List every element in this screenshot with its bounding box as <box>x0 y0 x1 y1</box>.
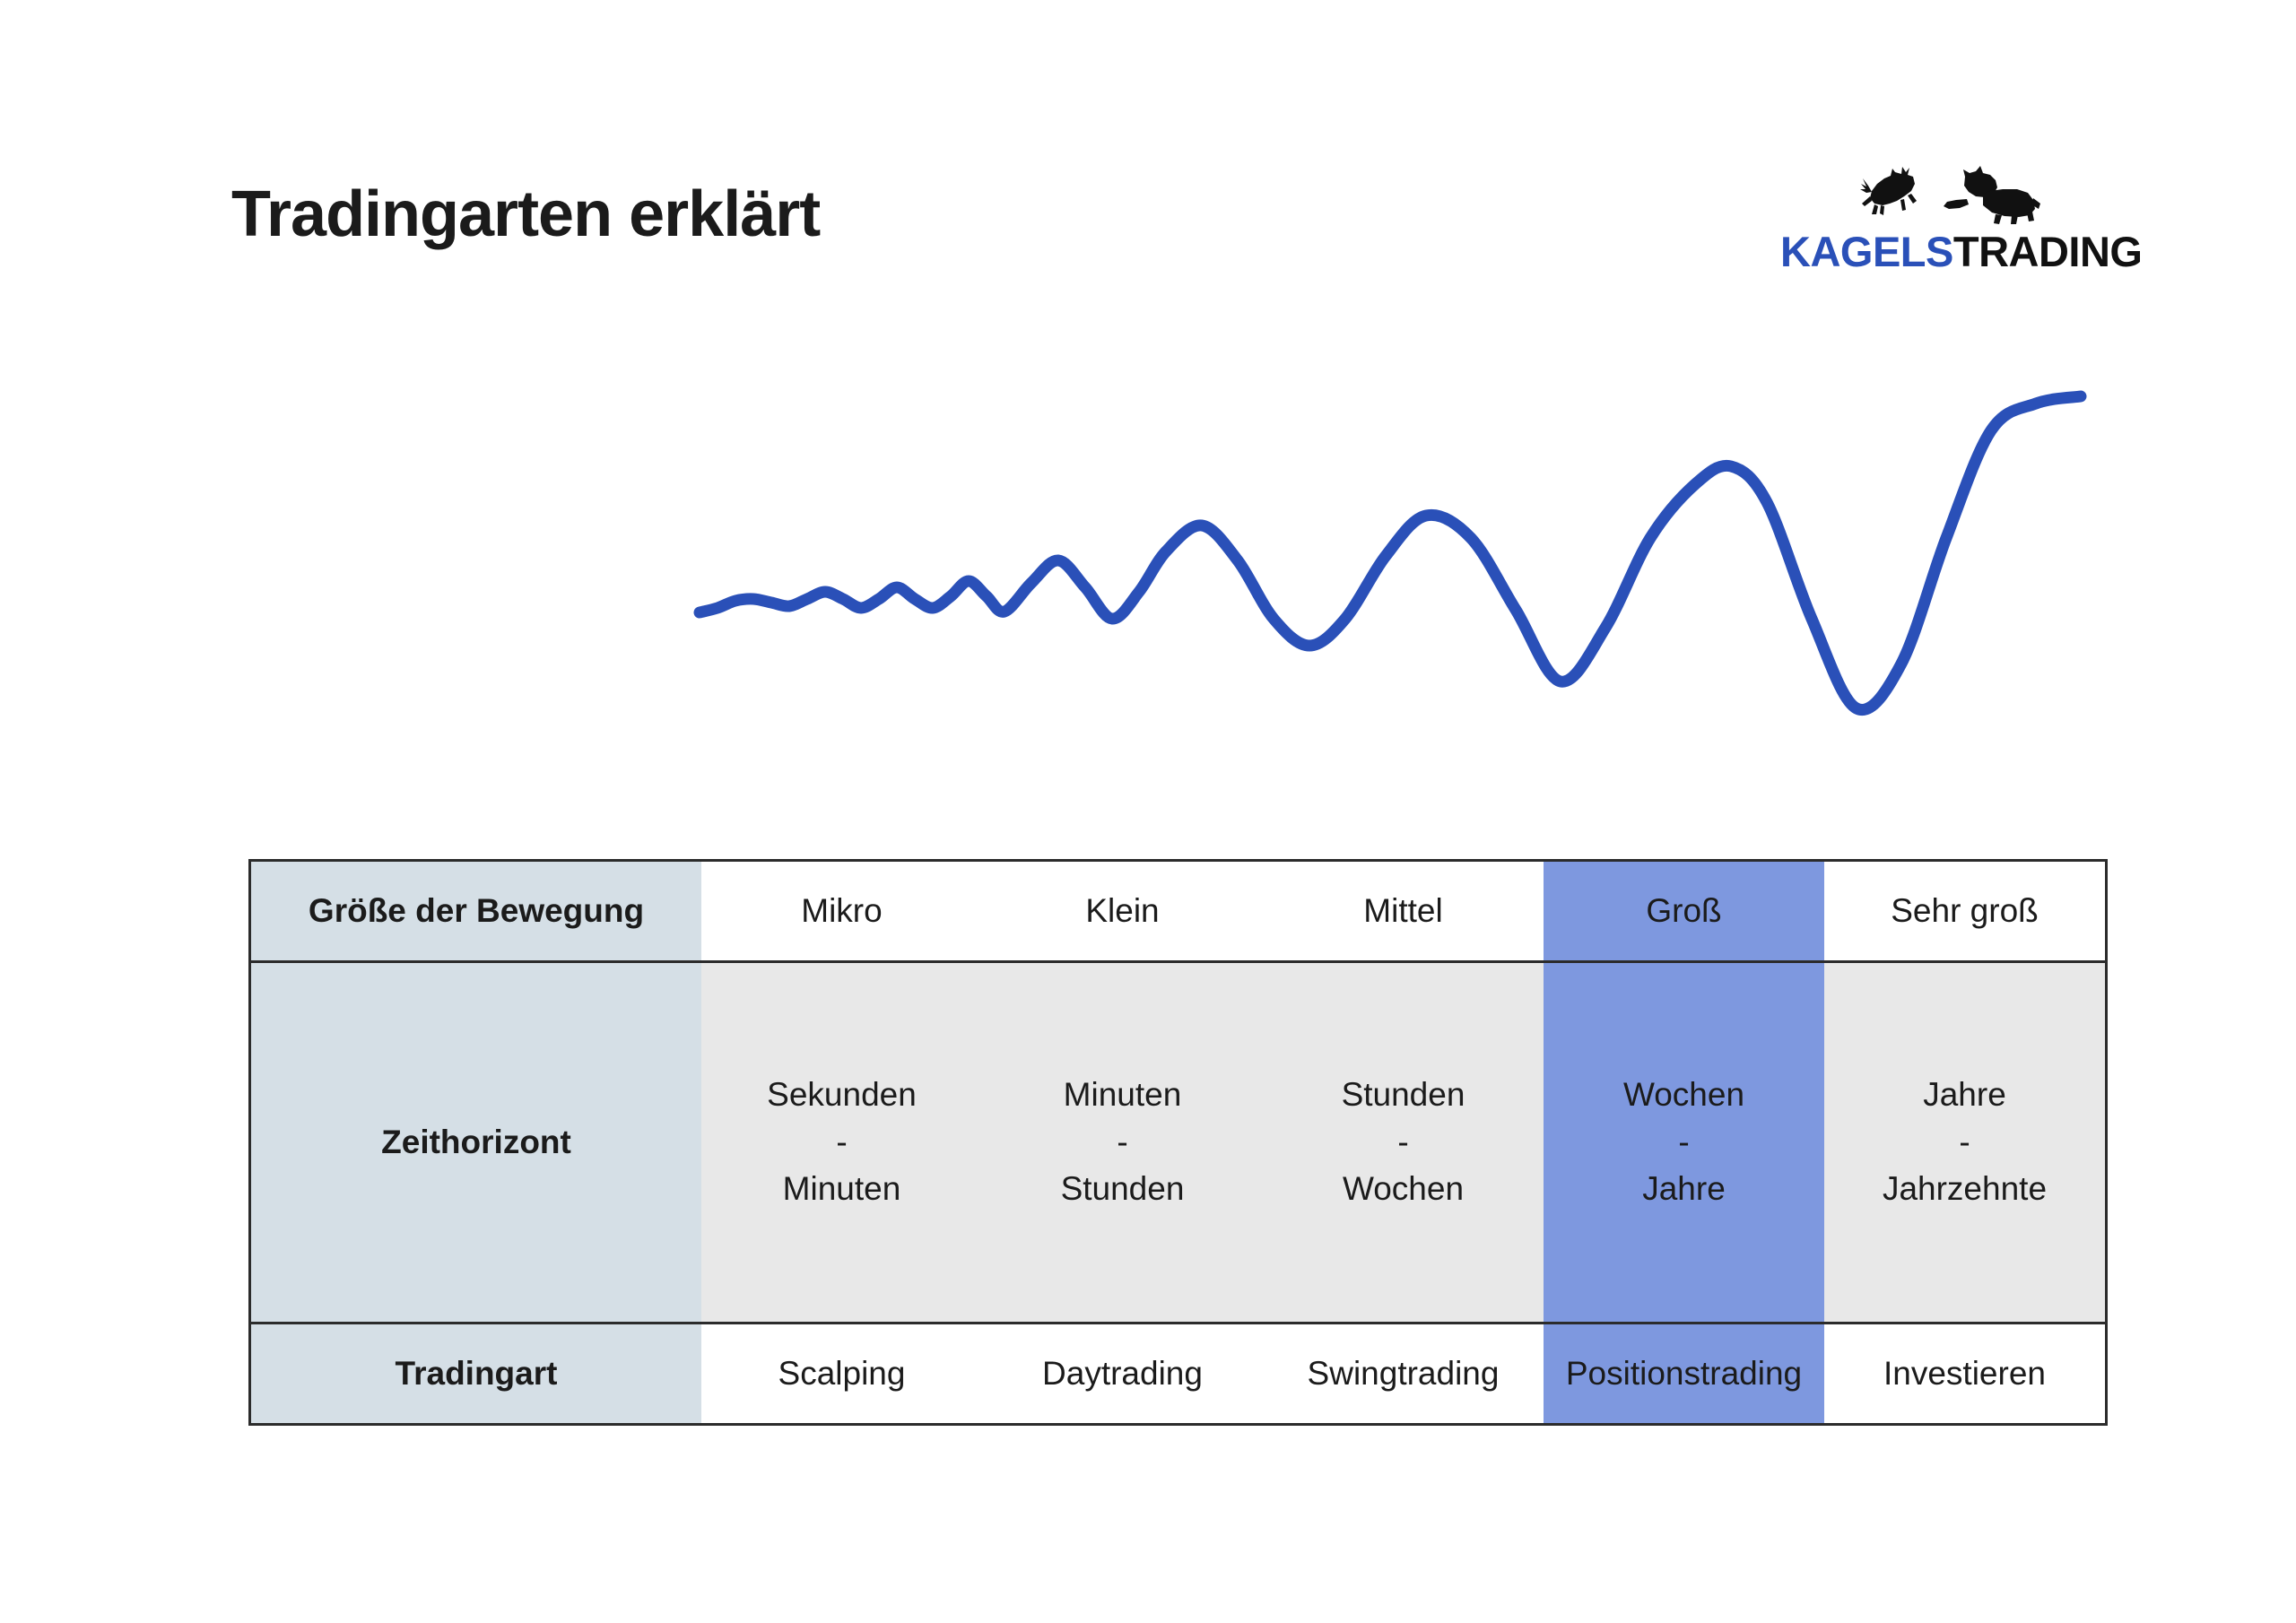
cell-zeit-minuten-stunden[interactable]: Minuten - Stunden <box>982 961 1263 1323</box>
cell-zeit-stunden-wochen[interactable]: Stunden - Wochen <box>1263 961 1544 1323</box>
cell-line-3: Jahre <box>1544 1166 1824 1213</box>
page-title: Tradingarten erklärt <box>231 178 820 251</box>
cell-art-daytrading[interactable]: Daytrading <box>982 1324 1263 1425</box>
market-wave-chart <box>0 341 2296 843</box>
table-row: Zeithorizont Sekunden - Minuten Minuten … <box>250 961 2107 1323</box>
cell-line-1: Jahre <box>1824 1072 2105 1119</box>
cell-groesse-mikro[interactable]: Mikro <box>701 861 982 962</box>
cell-line-2: - <box>1544 1119 1824 1167</box>
table-row: Tradingart Scalping Daytrading Swingtrad… <box>250 1324 2107 1425</box>
cell-art-investieren[interactable]: Investieren <box>1824 1324 2107 1425</box>
cell-line-3: Stunden <box>982 1166 1263 1213</box>
table-row: Größe der Bewegung Mikro Klein Mittel Gr… <box>250 861 2107 962</box>
cell-line-1: Stunden <box>1263 1072 1544 1119</box>
logo-text-trading: TRADING <box>1953 228 2143 275</box>
cell-groesse-sehr-gross[interactable]: Sehr groß <box>1824 861 2107 962</box>
header: Tradingarten erklärt <box>0 0 2296 323</box>
logo-wordmark: KAGELSTRADING <box>1780 229 2121 275</box>
cell-groesse-mittel[interactable]: Mittel <box>1263 861 1544 962</box>
row-label-zeithorizont: Zeithorizont <box>250 961 702 1323</box>
logo[interactable]: KAGELSTRADING <box>1780 164 2121 281</box>
wave-line <box>700 396 2081 710</box>
cell-line-1: Minuten <box>982 1072 1263 1119</box>
logo-animal-marks <box>1850 164 2048 227</box>
cell-groesse-gross[interactable]: Groß <box>1544 861 1824 962</box>
row-label-tradingart: Tradingart <box>250 1324 702 1425</box>
cell-zeit-wochen-jahre[interactable]: Wochen - Jahre <box>1544 961 1824 1323</box>
cell-line-1: Wochen <box>1544 1072 1824 1119</box>
cell-art-scalping[interactable]: Scalping <box>701 1324 982 1425</box>
logo-text-kagels: KAGELS <box>1780 228 1953 275</box>
cell-line-3: Wochen <box>1263 1166 1544 1213</box>
cell-line-3: Minuten <box>701 1166 982 1213</box>
bull-icon <box>1860 167 1917 215</box>
cell-line-2: - <box>701 1119 982 1167</box>
cell-line-2: - <box>1263 1119 1544 1167</box>
cell-zeit-sekunden-minuten[interactable]: Sekunden - Minuten <box>701 961 982 1323</box>
cell-art-positionstrading[interactable]: Positionstrading <box>1544 1324 1824 1425</box>
cell-line-2: - <box>1824 1119 2105 1167</box>
cell-zeit-jahre-jahrzehnte[interactable]: Jahre - Jahrzehnte <box>1824 961 2107 1323</box>
cell-groesse-klein[interactable]: Klein <box>982 861 1263 962</box>
bear-icon <box>1944 166 2040 224</box>
row-label-groesse: Größe der Bewegung <box>250 861 702 962</box>
trading-types-matrix: Größe der Bewegung Mikro Klein Mittel Gr… <box>248 859 2108 1426</box>
cell-line-2: - <box>982 1119 1263 1167</box>
cell-line-3: Jahrzehnte <box>1824 1166 2105 1213</box>
cell-line-1: Sekunden <box>701 1072 982 1119</box>
cell-art-swingtrading[interactable]: Swingtrading <box>1263 1324 1544 1425</box>
